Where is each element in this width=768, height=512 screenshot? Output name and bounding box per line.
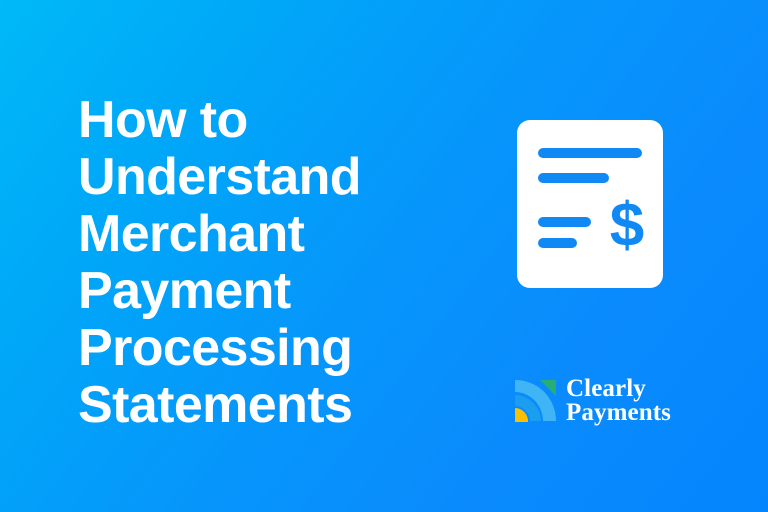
brand-name: Clearly Payments [566,377,671,425]
document-text-line-3 [538,217,591,227]
headline-line-5: Processing [78,320,458,377]
headline-line-4: Payment [78,263,458,320]
document-text-line-2 [538,173,609,183]
headline-line-1: How to [78,92,458,149]
headline-line-3: Merchant [78,206,458,263]
brand-name-line-2: Payments [566,401,671,425]
headline-line-6: Statements [78,377,458,434]
statement-document-icon: $ [517,120,663,288]
cover-image: How to Understand Merchant Payment Proce… [0,0,768,512]
brand-name-line-1: Clearly [566,377,671,401]
clearly-payments-logo-mark [513,378,557,424]
document-text-line-1 [538,148,642,158]
page-title: How to Understand Merchant Payment Proce… [78,92,458,434]
headline-line-2: Understand [78,149,458,206]
brand-logo: Clearly Payments [513,377,671,425]
dollar-sign-icon: $ [607,195,647,257]
document-text-line-4 [538,238,577,248]
